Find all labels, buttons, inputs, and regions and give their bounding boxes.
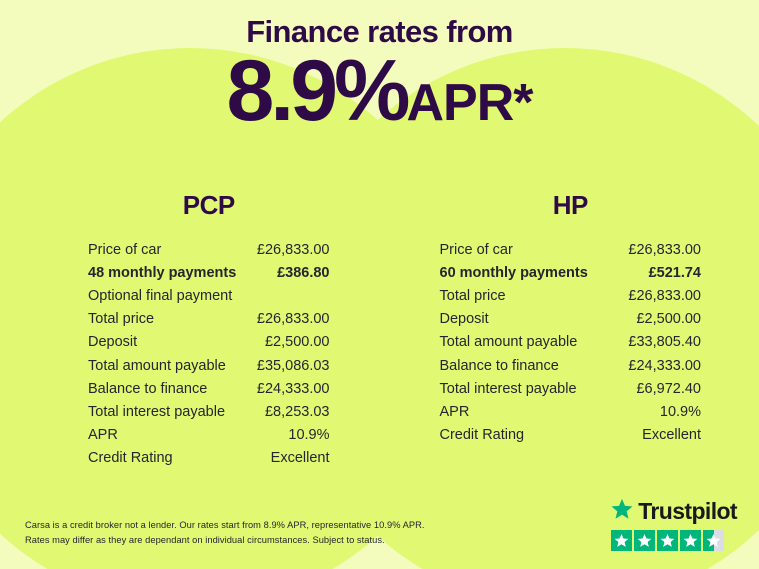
finance-row-value: £521.74 (649, 265, 701, 281)
finance-row-label: Total price (88, 311, 154, 327)
finance-row: 60 monthly payments£521.74 (440, 261, 702, 284)
headline-main: 8.9%APR* (0, 48, 759, 134)
trustpilot-star-rating (611, 530, 724, 551)
disclaimer: Carsa is a credit broker not a lender. O… (25, 518, 425, 547)
finance-row: Credit RatingExcellent (88, 447, 330, 470)
trustpilot-wordmark: Trustpilot (611, 498, 737, 525)
finance-row-value: £8,253.03 (265, 404, 330, 420)
plan-hp: HP Price of car£26,833.0060 monthly paym… (380, 190, 759, 470)
finance-row-value: £2,500.00 (265, 334, 330, 350)
finance-row: 48 monthly payments£386.80 (88, 261, 330, 284)
finance-row-value: £35,086.03 (257, 358, 330, 374)
trustpilot-star-icon (680, 530, 701, 551)
finance-row-value: £2,500.00 (636, 311, 701, 327)
finance-row-value: £6,972.40 (636, 381, 701, 397)
finance-row-value: Excellent (271, 450, 330, 466)
finance-row: Balance to finance£24,333.00 (440, 354, 702, 377)
headline-block: Finance rates from 8.9%APR* (0, 14, 759, 134)
finance-row: Total interest payable£6,972.40 (440, 377, 702, 400)
finance-row-label: Total interest payable (440, 381, 577, 397)
finance-row: Total amount payable£35,086.03 (88, 354, 330, 377)
finance-row-value: 10.9% (660, 404, 701, 420)
headline-rate-value: 8.9% (226, 43, 406, 139)
finance-row-label: APR (88, 427, 118, 443)
finance-row-value: £26,833.00 (628, 288, 701, 304)
trustpilot-star-icon (611, 498, 633, 525)
finance-row: Balance to finance£24,333.00 (88, 377, 330, 400)
finance-row-value: £26,833.00 (257, 311, 330, 327)
finance-row: Total price£26,833.00 (88, 308, 330, 331)
trustpilot-half-star-icon (703, 530, 724, 551)
finance-row-value: £24,333.00 (257, 381, 330, 397)
plan-hp-title: HP (440, 190, 702, 221)
finance-row-label: Price of car (88, 242, 161, 258)
finance-row: Price of car£26,833.00 (88, 238, 330, 261)
trustpilot-name: Trustpilot (638, 498, 737, 525)
finance-row-label: Deposit (440, 311, 489, 327)
headline-apr-label: APR* (407, 74, 533, 132)
finance-row-label: Price of car (440, 242, 513, 258)
finance-row-value: £386.80 (277, 265, 329, 281)
finance-row: Optional final payment (88, 284, 330, 307)
finance-row-label: Credit Rating (88, 450, 173, 466)
finance-row-label: Optional final payment (88, 288, 232, 304)
finance-row-label: Balance to finance (88, 381, 207, 397)
plan-pcp: PCP Price of car£26,833.0048 monthly pay… (0, 190, 380, 470)
finance-row: APR10.9% (440, 400, 702, 423)
plan-pcp-rows: Price of car£26,833.0048 monthly payment… (88, 238, 330, 470)
plan-hp-rows: Price of car£26,833.0060 monthly payment… (440, 238, 702, 447)
finance-row-value: Excellent (642, 427, 701, 443)
finance-row-value: £33,805.40 (628, 334, 701, 350)
finance-row-label: Total interest payable (88, 404, 225, 420)
finance-row-label: Credit Rating (440, 427, 525, 443)
finance-row-label: Deposit (88, 334, 137, 350)
finance-row-value: £24,333.00 (628, 358, 701, 374)
finance-row: Deposit£2,500.00 (440, 308, 702, 331)
finance-row: Total price£26,833.00 (440, 284, 702, 307)
trustpilot-star-icon (611, 530, 632, 551)
finance-row-value: £26,833.00 (257, 242, 330, 258)
finance-row-label: Total amount payable (88, 358, 226, 374)
finance-row-label: 48 monthly payments (88, 265, 236, 281)
disclaimer-line-1: Carsa is a credit broker not a lender. O… (25, 518, 425, 532)
finance-row-label: 60 monthly payments (440, 265, 588, 281)
plan-pcp-title: PCP (88, 190, 330, 221)
finance-row: Deposit£2,500.00 (88, 331, 330, 354)
finance-row-value: £26,833.00 (628, 242, 701, 258)
finance-row-label: Total amount payable (440, 334, 578, 350)
finance-row: Total amount payable£33,805.40 (440, 331, 702, 354)
finance-row-label: Balance to finance (440, 358, 559, 374)
disclaimer-line-2: Rates may differ as they are dependant o… (25, 533, 425, 547)
trustpilot-star-icon (657, 530, 678, 551)
trustpilot-badge[interactable]: Trustpilot (611, 498, 737, 551)
finance-row-label: Total price (440, 288, 506, 304)
trustpilot-star-icon (634, 530, 655, 551)
finance-rates-poster: Finance rates from 8.9%APR* PCP Price of… (0, 0, 759, 569)
finance-row-label: APR (440, 404, 470, 420)
finance-row: APR10.9% (88, 424, 330, 447)
finance-row: Price of car£26,833.00 (440, 238, 702, 261)
finance-plans: PCP Price of car£26,833.0048 monthly pay… (0, 190, 759, 470)
finance-row: Credit RatingExcellent (440, 424, 702, 447)
finance-row-value: 10.9% (288, 427, 329, 443)
finance-row: Total interest payable£8,253.03 (88, 400, 330, 423)
